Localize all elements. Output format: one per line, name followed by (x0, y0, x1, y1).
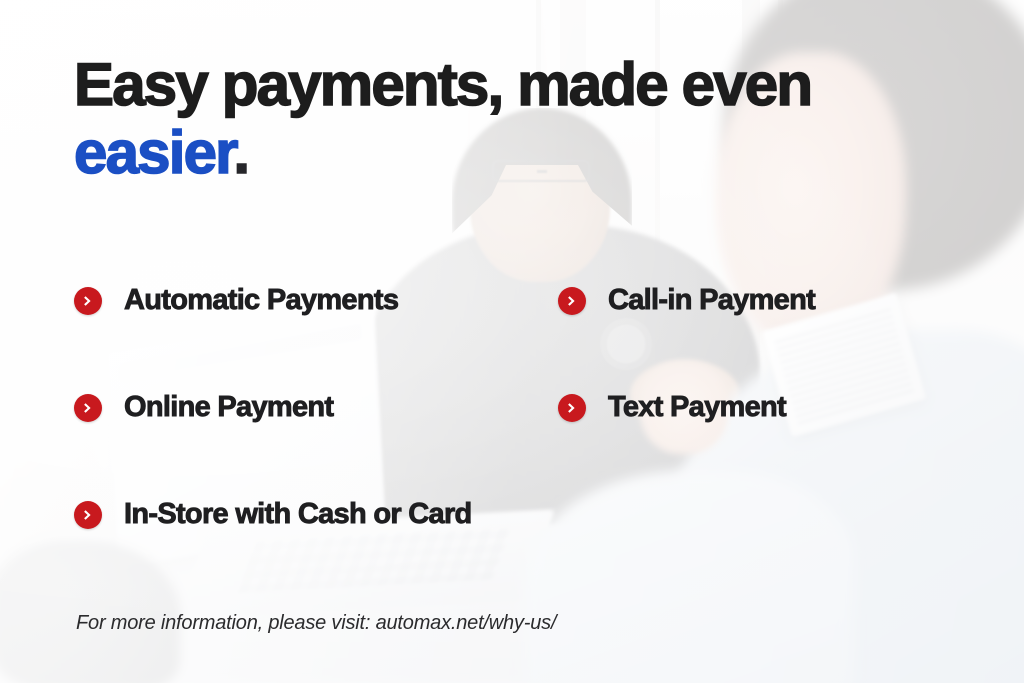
chevron-right-circle-icon (74, 501, 102, 529)
list-item-label: In-Store with Cash or Card (124, 498, 472, 531)
list-item-online-payment: Online Payment (74, 391, 333, 424)
list-item-label: Online Payment (124, 391, 333, 424)
promo-banner: Easy payments, made even easier. Automat… (0, 0, 1024, 683)
chevron-right-circle-icon (74, 394, 102, 422)
headline: Easy payments, made even easier. (74, 56, 954, 181)
headline-line-2: easier. (74, 124, 954, 182)
chevron-right-circle-icon (74, 287, 102, 315)
list-item-call-in-payment: Call-in Payment (558, 284, 815, 317)
bullet-row: Automatic Payments Call-in Payment (74, 284, 974, 391)
headline-highlight: easier (74, 119, 233, 186)
headline-line-1: Easy payments, made even (74, 51, 811, 118)
list-item-automatic-payments: Automatic Payments (74, 284, 398, 317)
list-item-in-store: In-Store with Cash or Card (74, 498, 472, 531)
list-item-label: Text Payment (608, 391, 786, 424)
list-item-text-payment: Text Payment (558, 391, 786, 424)
bullet-row: In-Store with Cash or Card (74, 498, 974, 605)
chevron-right-circle-icon (558, 287, 586, 315)
headline-period: . (233, 119, 248, 186)
payment-options-list: Automatic Payments Call-in Payment (74, 284, 974, 605)
footer-note: For more information, please visit: auto… (76, 612, 556, 635)
chevron-right-circle-icon (558, 394, 586, 422)
list-item-label: Automatic Payments (124, 284, 398, 317)
list-item-label: Call-in Payment (608, 284, 815, 317)
banner-content: Easy payments, made even easier. Automat… (0, 0, 1024, 683)
bullet-row: Online Payment Text Payment (74, 391, 974, 498)
